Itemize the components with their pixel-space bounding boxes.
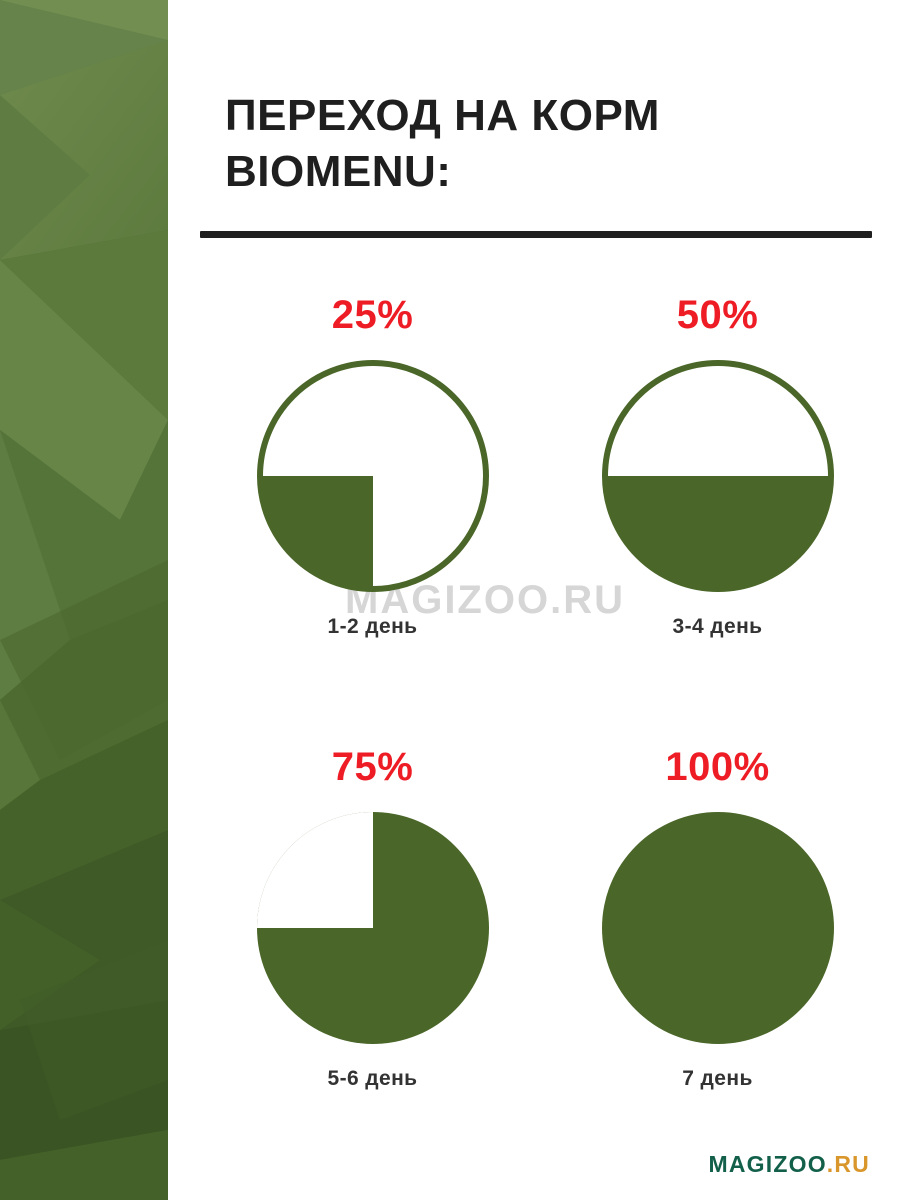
chart-label-100: 7 день bbox=[682, 1067, 753, 1091]
pie-chart-grid: 25% 1-2 день 50% 3-4 день 75% bbox=[200, 295, 890, 1091]
pie-75-icon bbox=[254, 809, 492, 1047]
decorative-side-panel bbox=[0, 0, 168, 1200]
chart-cell-50: 50% 3-4 день bbox=[545, 295, 890, 639]
title-divider bbox=[200, 231, 872, 238]
pie-50-icon bbox=[599, 357, 837, 595]
chart-cell-25: 25% 1-2 день bbox=[200, 295, 545, 639]
brand-name: MAGIZOO bbox=[709, 1151, 827, 1177]
chart-label-75: 5-6 день bbox=[328, 1067, 418, 1091]
percent-label-100: 100% bbox=[665, 747, 769, 787]
pie-filled-sector bbox=[605, 476, 831, 589]
infographic-page: ПЕРЕХОД НА КОРМ BIOMENU: MAGIZOO.RU 25% … bbox=[0, 0, 900, 1200]
pie-empty-sector bbox=[257, 812, 373, 928]
pie-chart-75 bbox=[254, 809, 492, 1047]
chart-cell-75: 75% 5-6 день bbox=[200, 747, 545, 1091]
percent-label-75: 75% bbox=[332, 747, 414, 787]
pie-25-icon bbox=[254, 357, 492, 595]
chart-cell-100: 100% 7 день bbox=[545, 747, 890, 1091]
brand-logo: MAGIZOO.RU bbox=[709, 1151, 871, 1178]
percent-label-25: 25% bbox=[332, 295, 414, 335]
pie-filled-sector bbox=[260, 476, 373, 589]
chart-label-25: 1-2 день bbox=[328, 615, 418, 639]
page-title: ПЕРЕХОД НА КОРМ BIOMENU: bbox=[225, 88, 885, 201]
low-poly-pattern-icon bbox=[0, 0, 168, 1200]
pie-chart-100 bbox=[599, 809, 837, 1047]
header: ПЕРЕХОД НА КОРМ BIOMENU: bbox=[225, 88, 885, 201]
pie-100-icon bbox=[599, 809, 837, 1047]
pie-filled-base bbox=[602, 812, 834, 1044]
percent-label-50: 50% bbox=[677, 295, 759, 335]
pie-chart-50 bbox=[599, 357, 837, 595]
pie-chart-25 bbox=[254, 357, 492, 595]
brand-tld: .RU bbox=[827, 1151, 870, 1177]
chart-label-50: 3-4 день bbox=[673, 615, 763, 639]
